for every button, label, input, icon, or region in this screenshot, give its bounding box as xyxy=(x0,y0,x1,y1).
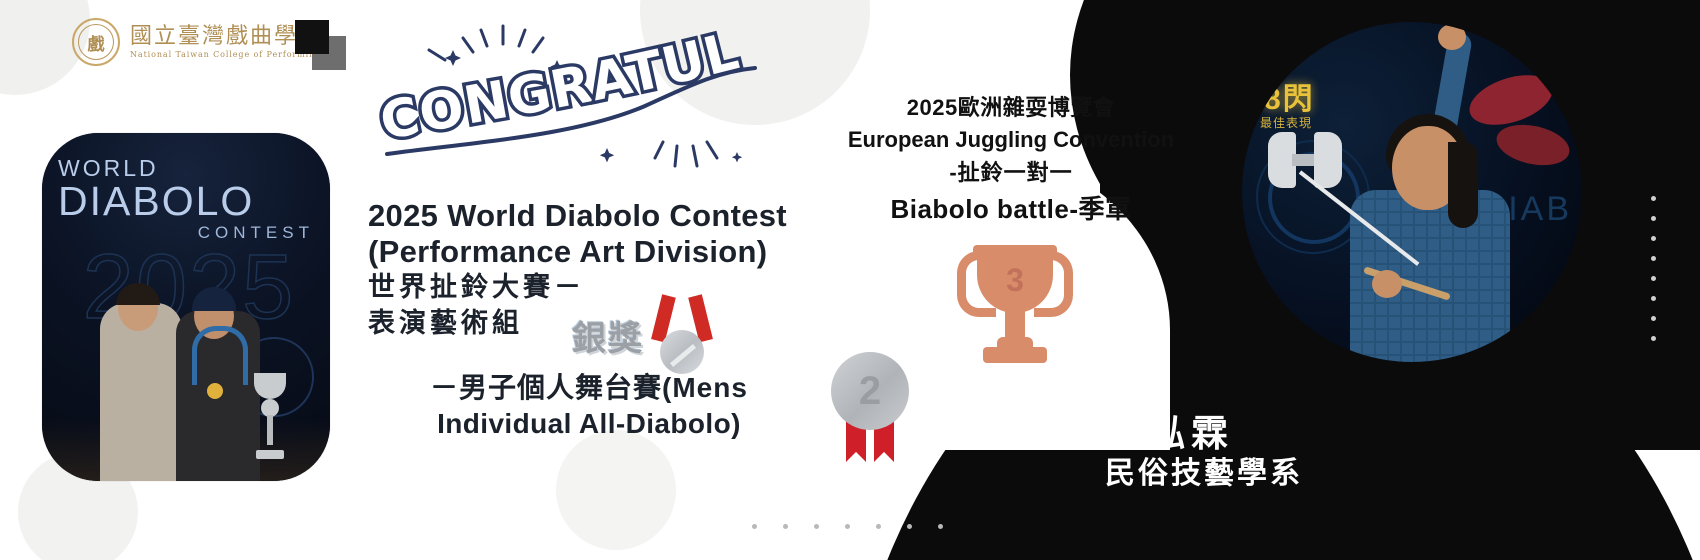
sunburst-icon xyxy=(429,26,543,60)
award-right-line1: 2025歐洲雜耍博覽會 xyxy=(846,92,1176,124)
decorative-square-black xyxy=(295,20,329,54)
awardee-name: 李泓霖 xyxy=(1105,412,1303,456)
left-award-text-2: －男子個人舞台賽(Mens Individual All-Diabolo) xyxy=(430,370,748,443)
performer-hair-side xyxy=(1448,142,1478,228)
award-left-line2: (Performance Art Division) xyxy=(368,234,787,270)
right-award-text: 2025歐洲雜耍博覽會 European Juggling Convention… xyxy=(846,92,1176,228)
dot-column-decoration xyxy=(1651,196,1656,341)
sunburst-icon-right xyxy=(655,142,717,166)
silver-medal-icon xyxy=(652,296,712,374)
trophy-icon xyxy=(250,373,290,459)
gold-medal-icon xyxy=(207,383,223,399)
award-right-line3: -扯鈴一對一 xyxy=(846,156,1176,189)
silver-award-badge: 銀獎 xyxy=(572,296,712,374)
stage-neon-subtext: 最佳表現 xyxy=(1260,114,1312,131)
award-right-line2: European Juggling Convention xyxy=(846,124,1176,156)
performer-hand-down xyxy=(1372,270,1402,298)
backdrop-diabolo: DIABOLO xyxy=(58,182,320,221)
performer-photo: DIAB 8閃 最佳表現 xyxy=(1242,22,1582,362)
award-announcement-banner: 戲 國立臺灣戲曲學院 National Taiwan College of Pe… xyxy=(0,0,1700,560)
award-left-line1: 2025 World Diabolo Contest xyxy=(368,198,787,234)
stage-neon-text: 8閃 xyxy=(1264,74,1315,118)
award-left-line3: －男子個人舞台賽(Mens xyxy=(430,370,748,406)
awardee-info: 李泓霖 民俗技藝學系 xyxy=(1105,412,1303,491)
award-right-line4: Biabolo battle-季軍 xyxy=(846,191,1176,229)
trophy-rank: 3 xyxy=(977,255,1053,305)
awardee-department: 民俗技藝學系 xyxy=(1105,456,1303,491)
seal-glyph: 戲 xyxy=(72,18,120,66)
seal-icon: 戲 xyxy=(72,18,120,66)
congratulations-headline: CONGRATULATIONS xyxy=(345,24,755,174)
rosette-rank: 2 xyxy=(828,352,912,430)
third-place-trophy-icon: 3 xyxy=(955,243,1075,373)
photo-backdrop-text: WORLD DIABOLO CONTEST xyxy=(58,155,320,243)
winners-photo: WORLD DIABOLO CONTEST 2025 xyxy=(42,133,330,481)
award-left-line4: Individual All-Diabolo) xyxy=(430,406,748,442)
medal-ribbon-icon xyxy=(192,326,248,385)
decorative-circle-center-bottom xyxy=(556,430,676,550)
second-place-rosette-icon: 2 xyxy=(828,352,914,462)
silver-award-label: 銀獎 xyxy=(572,311,644,360)
performer-hand-up xyxy=(1438,24,1466,50)
dot-row-decoration xyxy=(752,524,943,529)
diabolo-icon xyxy=(1268,132,1342,188)
